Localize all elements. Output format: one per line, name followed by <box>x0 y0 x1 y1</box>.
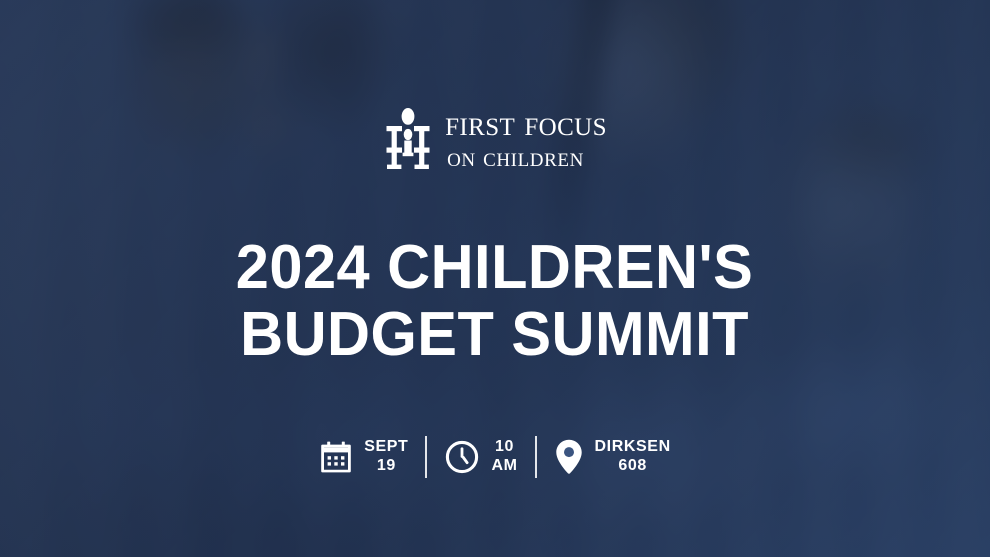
event-time-text: 10 AM <box>491 438 517 474</box>
event-detail-date: SEPT 19 <box>302 438 425 474</box>
event-detail-location: DIRKSEN 608 <box>537 438 688 476</box>
event-date-month: SEPT <box>364 438 408 456</box>
event-date-day: 19 <box>364 457 408 475</box>
location-pin-icon <box>554 438 584 476</box>
clock-icon <box>444 439 480 475</box>
calendar-icon <box>319 440 353 474</box>
event-title-line-1: 2024 CHILDREN'S <box>236 235 754 301</box>
event-title-line-2: BUDGET SUMMIT <box>236 302 754 368</box>
event-details-bar: SEPT 19 10 AM <box>302 436 688 478</box>
event-title: 2024 CHILDREN'S BUDGET SUMMIT <box>236 235 754 368</box>
event-location-text: DIRKSEN 608 <box>595 438 671 474</box>
event-time-hour: 10 <box>491 438 517 456</box>
first-focus-logo: First Focus on Children <box>383 106 607 171</box>
event-time-meridiem: AM <box>491 457 517 475</box>
event-location-building: DIRKSEN <box>595 438 671 456</box>
event-date-text: SEPT 19 <box>364 438 408 474</box>
logo-wordmark: First Focus on Children <box>445 106 607 171</box>
logo-line-first-focus: First Focus <box>445 106 607 141</box>
content-stack: First Focus on Children 2024 CHILDREN'S … <box>0 0 990 557</box>
event-promo-graphic: First Focus on Children 2024 CHILDREN'S … <box>0 0 990 557</box>
event-detail-time: 10 AM <box>427 438 534 474</box>
first-focus-family-mark-icon <box>383 107 433 171</box>
event-location-room: 608 <box>595 457 671 475</box>
logo-line-on-children: on Children <box>445 144 584 171</box>
